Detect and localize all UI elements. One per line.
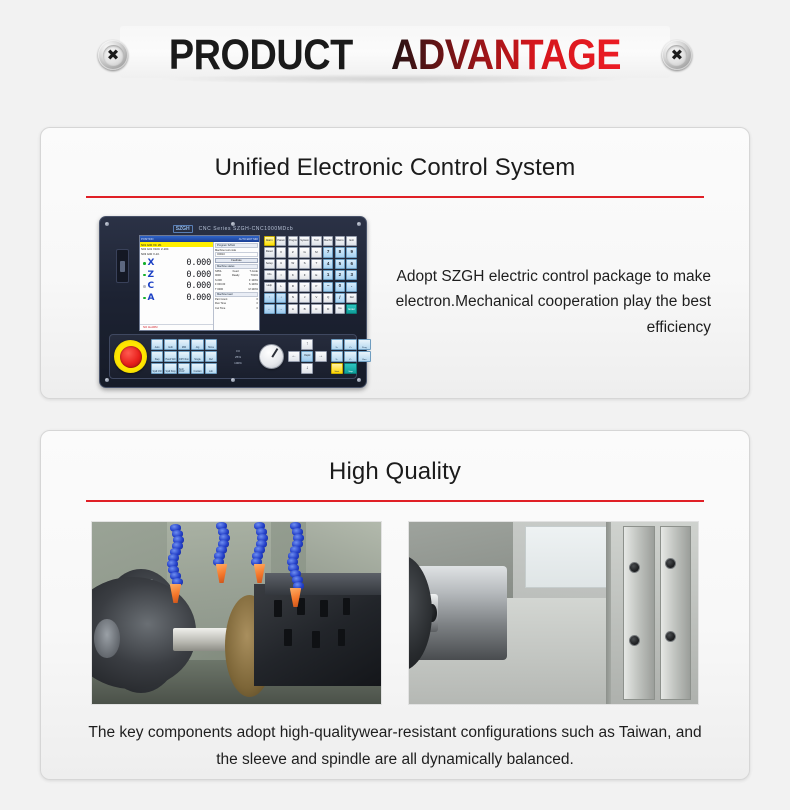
side-cell: M 100%	[248, 288, 258, 292]
turret-tool	[312, 631, 320, 648]
keypad-key[interactable]: A	[288, 304, 299, 314]
card-one-body: SZGH CNC Series SZGH-CNC1000MDcb POSITIO…	[41, 198, 749, 388]
auxiliary-key[interactable]: Z−	[344, 351, 356, 362]
axis-label: Z	[148, 271, 157, 280]
keypad-key[interactable]: −	[323, 282, 334, 292]
jog-key[interactable]: Rapid	[301, 351, 313, 362]
turret-tool	[284, 629, 292, 646]
usb-port-icon	[116, 249, 129, 283]
keypad-key[interactable]: F	[299, 270, 310, 280]
keypad-key[interactable]: Z	[288, 247, 299, 257]
coolant-hose-icon	[170, 524, 181, 603]
mode-key[interactable]: Lub	[205, 363, 217, 374]
axis-row: Z 0.000	[143, 271, 211, 280]
turret-tool	[274, 600, 282, 617]
panel-screw-icon	[231, 378, 235, 382]
chuck-face	[94, 619, 119, 657]
turret-tool	[338, 629, 346, 646]
cross-glyph-left: ✖	[103, 45, 124, 66]
emergency-stop-mushroom	[120, 346, 142, 368]
panel-screw-icon	[357, 378, 361, 382]
keypad-key[interactable]: 1	[323, 270, 334, 280]
axis-row: A 0.000	[143, 294, 211, 303]
axis-status-dot	[143, 297, 146, 300]
cnc-upper-section: POSITION AUTO EDIT MDI N01 G00 X0. Z0. N…	[105, 235, 361, 331]
keypad-key[interactable]: Q	[323, 293, 334, 303]
title-word-product: PRODUCT	[169, 31, 353, 79]
keypad-key[interactable]: X	[276, 247, 287, 257]
card-one-description: Adopt SZGH electric control package to m…	[367, 264, 749, 339]
keypad-key[interactable]: E	[311, 270, 322, 280]
auxiliary-key[interactable]: X+	[331, 339, 343, 350]
keypad-key[interactable]: /	[335, 293, 346, 303]
keypad-key[interactable]: L	[276, 282, 287, 292]
linear-guide-rail-area	[611, 522, 698, 704]
turret-top-plate	[265, 573, 381, 595]
mode-key[interactable]: Edit	[164, 339, 176, 350]
rail-bolt-icon	[629, 635, 640, 646]
usb-slot	[120, 261, 125, 272]
mode-key[interactable]: Step	[151, 351, 163, 362]
keypad-key[interactable]: W	[288, 259, 299, 269]
cnc-model-label: CNC Series SZGH-CNC1000MDcb	[199, 226, 294, 232]
cnc-control-panel: SZGH CNC Series SZGH-CNC1000MDcb POSITIO…	[99, 216, 367, 388]
keypad-key[interactable]: System	[299, 236, 310, 246]
jog-arrow-pad[interactable]: ↑←Rapid→↓	[288, 339, 327, 373]
guide-rail	[623, 526, 654, 701]
emergency-stop-button[interactable]	[114, 340, 147, 373]
rail-bolt-icon	[629, 562, 640, 573]
jog-key[interactable]: ←	[288, 351, 300, 362]
mode-key[interactable]: Auto	[151, 339, 163, 350]
feedrate-scale: F0 25% 100%	[221, 349, 255, 365]
mode-key[interactable]: Jog	[191, 339, 203, 350]
mode-key[interactable]: Spdl Stop	[164, 363, 176, 374]
panel-screw-icon	[357, 222, 361, 226]
page-title: ✖ PRODUCT ADVANTAGE ✖	[98, 34, 692, 77]
card-one-title: Unified Electronic Control System	[41, 128, 749, 182]
keypad-key[interactable]: R	[288, 282, 299, 292]
screen-main-pane: N01 G00 X0. Z0. N02 G01 X100. Z-200. N03…	[140, 242, 214, 330]
side-cell: 0	[257, 307, 258, 311]
jog-key[interactable]: ↑	[301, 339, 313, 350]
mode-key-grid[interactable]: AutoEditMDIJogHomeStepHand WhlDRY RunSin…	[151, 339, 217, 373]
keypad-key[interactable]: ↓	[276, 293, 287, 303]
keypad-key[interactable]: Y	[299, 282, 310, 292]
side-feedrate-button: Feedrate	[215, 258, 258, 263]
mode-key[interactable]: Ref	[205, 351, 217, 362]
side-cell: Ready	[232, 274, 240, 278]
keypad-key[interactable]: 8	[335, 247, 346, 257]
axis-value: 0.000	[157, 259, 212, 268]
axis-status-dot	[143, 274, 146, 277]
keypad-key[interactable]: M	[311, 247, 322, 257]
screen-axis-readout: X 0.000 Z 0.000	[140, 256, 213, 324]
side-program-title: Program SZGH	[215, 243, 258, 248]
keypad-key[interactable]: D	[323, 304, 334, 314]
axis-row: C 0.000	[143, 282, 211, 291]
axis-value: 0.000	[157, 294, 212, 303]
auxiliary-key[interactable]: Run	[358, 351, 370, 362]
mode-key[interactable]: Single	[191, 351, 203, 362]
keypad-key[interactable]: Setup	[264, 259, 275, 269]
side-cell: Cut Time	[215, 307, 225, 311]
jog-key[interactable]: ↓	[301, 363, 313, 374]
keypad-key[interactable]: Reset	[264, 247, 275, 257]
card-two-caption: The key components adopt high-qualitywea…	[41, 705, 749, 773]
coolant-hose-icon	[216, 522, 227, 583]
keypad-key[interactable]: Help	[264, 282, 275, 292]
coolant-nozzle-icon	[169, 584, 182, 603]
mode-key[interactable]: Hand Whl	[164, 351, 176, 362]
screen-body: N01 G00 X0. Z0. N02 G01 X100. Z-200. N03…	[140, 242, 259, 330]
keypad-key[interactable]: Machin	[323, 236, 334, 246]
cross-circle-icon-left: ✖	[98, 40, 128, 70]
side-cell: T 0000	[215, 288, 223, 292]
keypad-key[interactable]: U	[276, 259, 287, 269]
card-high-quality: High Quality	[40, 430, 750, 780]
panel-screw-icon	[105, 222, 109, 226]
keypad-key[interactable]: ↑	[264, 293, 275, 303]
keypad-key[interactable]: I	[276, 270, 287, 280]
auxiliary-key[interactable]: Z+	[344, 339, 356, 350]
screen-titlebar-right: AUTO EDIT MDI	[239, 238, 258, 241]
keypad-key[interactable]: 7	[323, 247, 334, 257]
keypad-key[interactable]: 4	[323, 259, 334, 269]
turret-tool	[343, 598, 351, 615]
coolant-nozzle-icon	[253, 564, 266, 583]
keypad-key[interactable]: G	[299, 247, 310, 257]
jog-key[interactable]: →	[315, 351, 327, 362]
screen-titlebar-left: POSITION	[141, 238, 153, 241]
guide-rail	[660, 526, 691, 701]
keypad-key[interactable]: 3	[346, 270, 357, 280]
panel-screw-icon	[231, 222, 235, 226]
cnc-lathe-coolant-hoses-photo	[91, 521, 382, 705]
szgh-logo: SZGH	[173, 225, 193, 233]
cnc-controller-figure: SZGH CNC Series SZGH-CNC1000MDcb POSITIO…	[41, 216, 367, 388]
keypad-key[interactable]: P	[311, 282, 322, 292]
cross-glyph-right: ✖	[666, 45, 687, 66]
keypad-key[interactable]: B	[299, 304, 310, 314]
keypad-key[interactable]: Progrm	[288, 236, 299, 246]
coolant-nozzle-icon	[215, 564, 228, 583]
axis-label: C	[148, 282, 157, 291]
card-unified-electronic-control-system: Unified Electronic Control System SZGH C…	[40, 127, 750, 399]
axis-status-dot	[143, 262, 146, 265]
keypad-key[interactable]: Exit	[346, 236, 357, 246]
keypad-key[interactable]: T	[311, 259, 322, 269]
page-header: ✖ PRODUCT ADVANTAGE ✖	[0, 0, 790, 110]
keypad-key[interactable]: Ins	[335, 304, 346, 314]
cnc-lcd-screen: POSITION AUTO EDIT MDI N01 G00 X0. Z0. N…	[139, 235, 260, 331]
keypad-key[interactable]: V	[311, 293, 322, 303]
feed-label-mid: 25%	[235, 355, 241, 359]
auxiliary-key[interactable]: Prog	[358, 339, 370, 350]
axis-value: 0.000	[157, 282, 212, 291]
keypad-key[interactable]: Param	[276, 236, 287, 246]
side-load-title: Machine load	[215, 292, 258, 297]
auxiliary-key[interactable]: X−	[331, 351, 343, 362]
mode-key[interactable]: Spdl CW	[151, 363, 163, 374]
axis-status-dot	[143, 285, 146, 288]
axis-label: X	[148, 259, 157, 268]
coolant-hose-icon	[254, 522, 265, 583]
title-text: PRODUCT ADVANTAGE	[169, 34, 621, 77]
mode-key[interactable]: DRY Run	[178, 351, 190, 362]
side-status-title: Machine status	[215, 264, 258, 269]
panel-screw-icon	[105, 378, 109, 382]
turret-tool	[320, 600, 328, 617]
tool-turret	[254, 584, 381, 686]
axis-value: 0.000	[157, 271, 212, 280]
keypad-key[interactable]: C	[311, 304, 322, 314]
auxiliary-key-grid[interactable]: X+Z+ProgX−Z−RunStartStop	[331, 339, 371, 373]
mode-key[interactable]: MDI	[178, 339, 190, 350]
mode-key[interactable]: Spdl CCW	[178, 363, 190, 374]
keypad-key[interactable]: .	[346, 282, 357, 292]
keypad-key[interactable]: K	[288, 270, 299, 280]
keypad-key[interactable]: →	[276, 304, 287, 314]
cnc-port-column	[109, 235, 135, 331]
screen-alarm-status: NO ALARM	[140, 324, 213, 330]
title-word-advantage: ADVANTAGE	[391, 31, 621, 79]
keypad-key[interactable]: ←	[264, 304, 275, 314]
coolant-hose-icon	[290, 522, 301, 607]
mode-key[interactable]: Home	[205, 339, 217, 350]
keypad-key[interactable]: 6	[346, 259, 357, 269]
feed-label-min: F0	[236, 349, 240, 353]
keypad-key[interactable]: Macro	[335, 236, 346, 246]
auxiliary-key[interactable]: Start	[331, 363, 343, 374]
feed-label-max: 100%	[234, 361, 242, 365]
cross-circle-icon-right: ✖	[662, 40, 692, 70]
keypad-key[interactable]: Tool	[311, 236, 322, 246]
coolant-nozzle-icon	[289, 588, 302, 607]
cnc-operator-panel: AutoEditMDIJogHomeStepHand WhlDRY RunSin…	[109, 334, 357, 379]
keypad-key[interactable]: S	[299, 259, 310, 269]
keypad-key[interactable]: 9	[346, 247, 357, 257]
keypad-key[interactable]: 0	[335, 282, 346, 292]
keypad-key[interactable]: Enter	[346, 304, 357, 314]
keypad-key[interactable]: 2	[335, 270, 346, 280]
keypad-key[interactable]: J	[299, 293, 310, 303]
card-two-title: High Quality	[41, 431, 749, 486]
auxiliary-key[interactable]: Stop	[344, 363, 356, 374]
card-two-photo-row	[41, 502, 749, 705]
keypad-key[interactable]: Info	[264, 270, 275, 280]
screen-side-pane: Program SZGH Machine tool code O0010 Fee…	[214, 242, 259, 330]
side-program-field: O0010	[215, 252, 258, 257]
cnc-spindle-guide-rails-photo	[408, 521, 699, 705]
keypad-key[interactable]: 5	[335, 259, 346, 269]
feedrate-override-dial[interactable]	[259, 344, 284, 369]
keypad-key[interactable]: Del	[346, 293, 357, 303]
keypad-key[interactable]: N	[288, 293, 299, 303]
mode-key[interactable]: Coolant	[191, 363, 203, 374]
axis-row: X 0.000	[143, 259, 211, 268]
keypad-key[interactable]: Alarm	[264, 236, 275, 246]
cnc-keypad[interactable]: AlarmParamProgrmSystemToolMachinMacroExi…	[264, 235, 357, 331]
axis-label: A	[148, 294, 157, 303]
side-counter-row: Cut Time 0	[215, 307, 258, 311]
